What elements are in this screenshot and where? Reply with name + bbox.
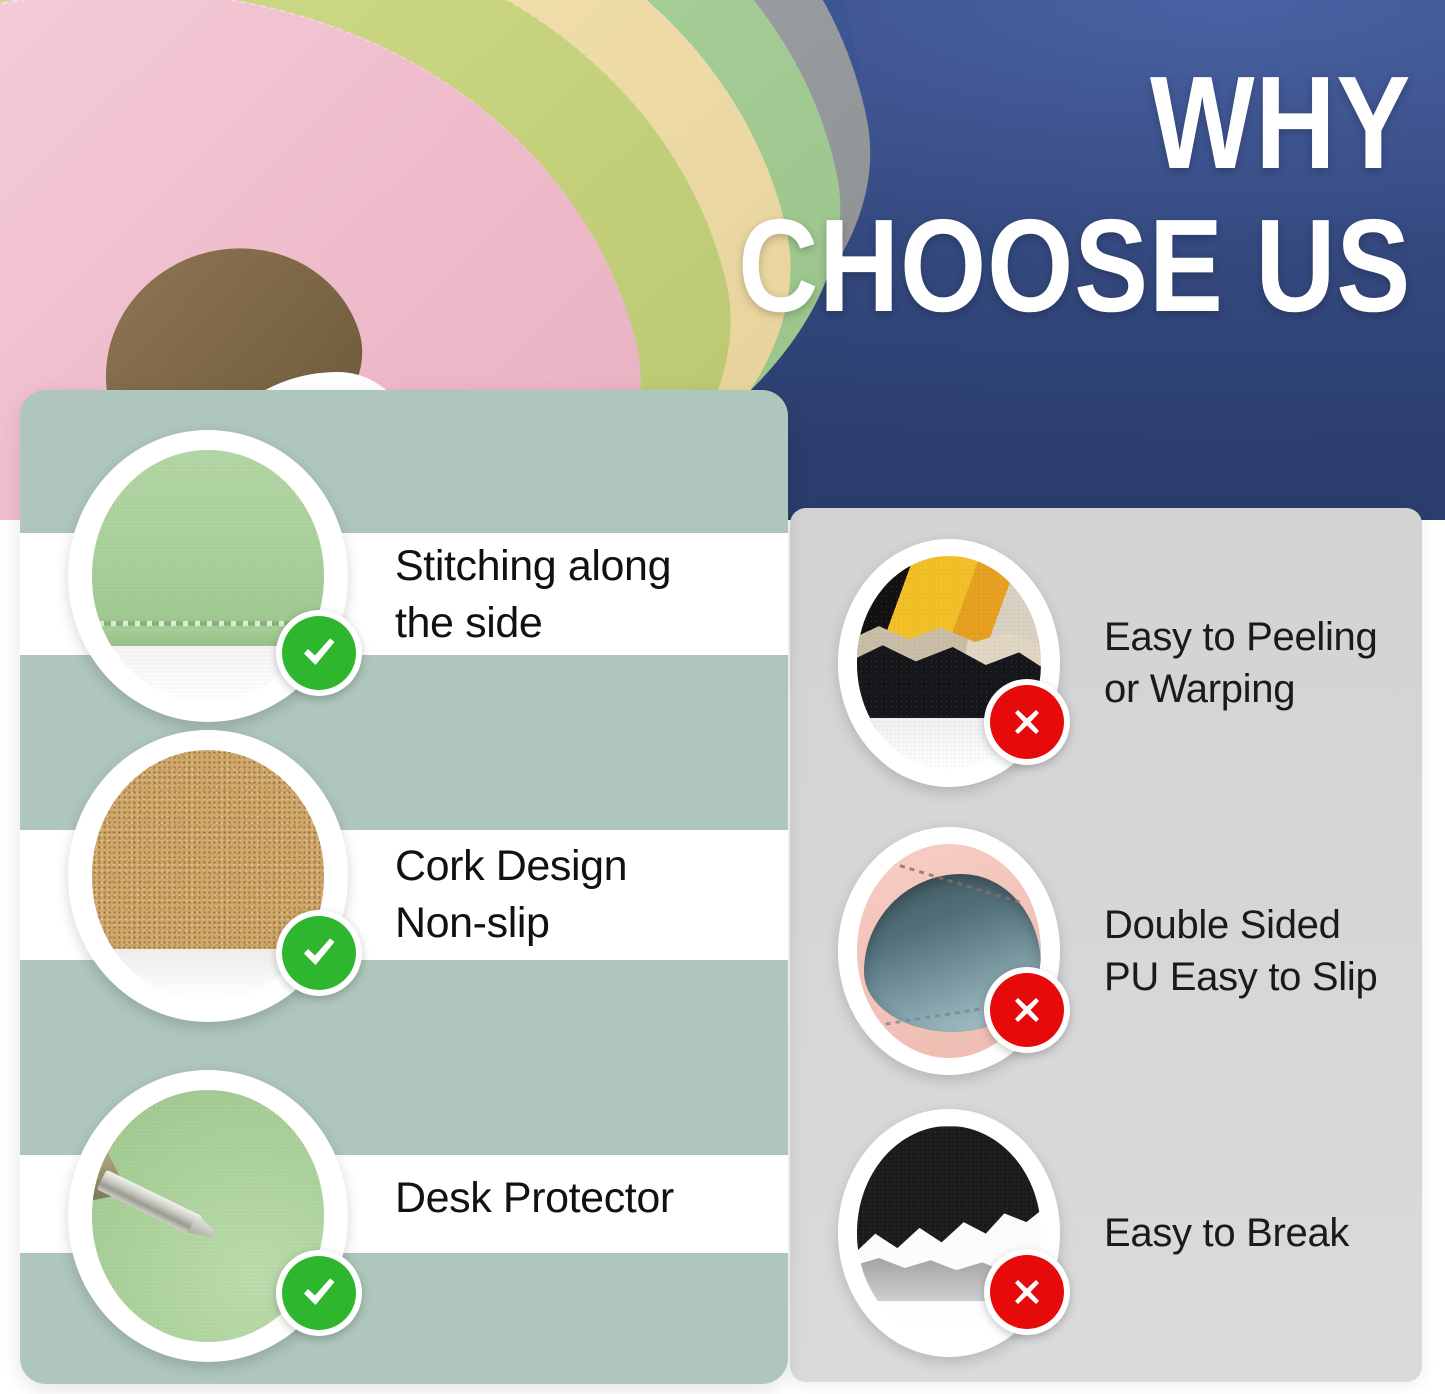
cons-label-break: Easy to Break [1104, 1207, 1349, 1259]
cons-thumb-double-sided-pu [838, 827, 1060, 1075]
pros-panel: Stitching alongthe side Cork DesignNon-s… [20, 390, 788, 1384]
cons-item-break: Easy to Break [790, 1108, 1422, 1358]
title-line-2: CHOOSE US [738, 205, 1411, 326]
cons-thumb-peeling [838, 539, 1060, 787]
pros-label-cork: Cork DesignNon-slip [395, 838, 627, 952]
pros-thumb-cork [68, 730, 348, 1022]
pros-label-desk-protector: Desk Protector [395, 1170, 674, 1227]
cons-thumb-break [838, 1109, 1060, 1357]
check-icon [276, 1250, 362, 1336]
pros-thumb-desk-protector [68, 1070, 348, 1362]
cons-panel: Easy to Peelingor Warping Double SidedPU… [790, 508, 1422, 1382]
cons-label-double-sided-pu: Double SidedPU Easy to Slip [1104, 899, 1377, 1003]
check-icon [276, 910, 362, 996]
title-line-1: WHY [738, 62, 1411, 183]
check-icon [276, 610, 362, 696]
cons-item-double-sided-pu: Double SidedPU Easy to Slip [790, 826, 1422, 1076]
page-title: WHY CHOOSE US [610, 62, 1411, 327]
pros-thumb-stitching [68, 430, 348, 722]
cross-icon [984, 967, 1070, 1053]
cross-icon [984, 1249, 1070, 1335]
cons-item-peeling: Easy to Peelingor Warping [790, 538, 1422, 788]
cross-icon [984, 679, 1070, 765]
pros-label-stitching: Stitching alongthe side [395, 538, 671, 652]
cons-label-peeling: Easy to Peelingor Warping [1104, 611, 1377, 715]
